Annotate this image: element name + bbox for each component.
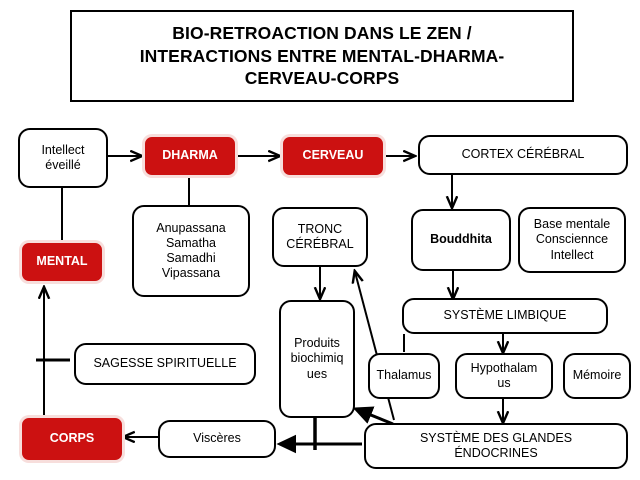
node-systeme-limbique[interactable]: SYSTÈME LIMBIQUE xyxy=(402,298,608,334)
node-cerveau-label: CERVEAU xyxy=(303,148,364,163)
node-base-mentale[interactable]: Base mentale Consciennce Intellect xyxy=(518,207,626,273)
node-sagesse-spirituelle[interactable]: SAGESSE SPIRITUELLE xyxy=(74,343,256,385)
node-thalamus-label: Thalamus xyxy=(377,368,432,383)
page-title: BIO-RETROACTION DANS LE ZEN / INTERACTIO… xyxy=(134,22,511,90)
node-dharma[interactable]: DHARMA xyxy=(145,137,235,175)
node-meditations-label: Anupassana Samatha Samadhi Vipassana xyxy=(156,221,226,282)
node-sagesse-spirituelle-label: SAGESSE SPIRITUELLE xyxy=(93,356,236,371)
node-cerveau[interactable]: CERVEAU xyxy=(283,137,383,175)
node-produits-biochimiques[interactable]: Produits biochimiq ues xyxy=(279,300,355,418)
node-cortex-cerebral-label: CORTEX CÉRÉBRAL xyxy=(462,147,585,162)
node-visceres[interactable]: Viscères xyxy=(158,420,276,458)
node-thalamus[interactable]: Thalamus xyxy=(368,353,440,399)
node-mental[interactable]: MENTAL xyxy=(22,243,102,281)
node-mental-label: MENTAL xyxy=(36,254,87,269)
node-produits-biochimiques-label: Produits biochimiq ues xyxy=(291,336,344,382)
node-glandes-endocrines-label: SYSTÈME DES GLANDES ÉNDOCRINES xyxy=(420,431,572,462)
node-memoire[interactable]: Mémoire xyxy=(563,353,631,399)
node-systeme-limbique-label: SYSTÈME LIMBIQUE xyxy=(444,308,567,323)
node-corps-label: CORPS xyxy=(50,431,94,446)
node-meditations[interactable]: Anupassana Samatha Samadhi Vipassana xyxy=(132,205,250,297)
node-tronc-cerebral[interactable]: TRONC CÉRÉBRAL xyxy=(272,207,368,267)
node-bouddhita-label: Bouddhita xyxy=(430,232,492,247)
node-intellect-eveille-label: Intellect éveillé xyxy=(41,143,84,174)
node-corps[interactable]: CORPS xyxy=(22,418,122,460)
node-dharma-label: DHARMA xyxy=(162,148,218,163)
title-line-2: INTERACTIONS ENTRE MENTAL-DHARMA- xyxy=(140,45,505,68)
node-glandes-endocrines[interactable]: SYSTÈME DES GLANDES ÉNDOCRINES xyxy=(364,423,628,469)
diagram-title-box: BIO-RETROACTION DANS LE ZEN / INTERACTIO… xyxy=(70,10,574,102)
edge-glandes-to-produits xyxy=(356,409,393,424)
diagram-canvas: BIO-RETROACTION DANS LE ZEN / INTERACTIO… xyxy=(0,0,640,480)
node-visceres-label: Viscères xyxy=(193,431,241,446)
node-base-mentale-label: Base mentale Consciennce Intellect xyxy=(534,217,610,263)
node-tronc-cerebral-label: TRONC CÉRÉBRAL xyxy=(286,222,353,253)
node-hypothalamus-label: Hypothalam us xyxy=(471,361,538,392)
node-cortex-cerebral[interactable]: CORTEX CÉRÉBRAL xyxy=(418,135,628,175)
node-hypothalamus[interactable]: Hypothalam us xyxy=(455,353,553,399)
title-line-3: CERVEAU-CORPS xyxy=(140,67,505,90)
node-memoire-label: Mémoire xyxy=(573,368,622,383)
node-intellect-eveille[interactable]: Intellect éveillé xyxy=(18,128,108,188)
title-line-1: BIO-RETROACTION DANS LE ZEN / xyxy=(140,22,505,45)
node-bouddhita[interactable]: Bouddhita xyxy=(411,209,511,271)
